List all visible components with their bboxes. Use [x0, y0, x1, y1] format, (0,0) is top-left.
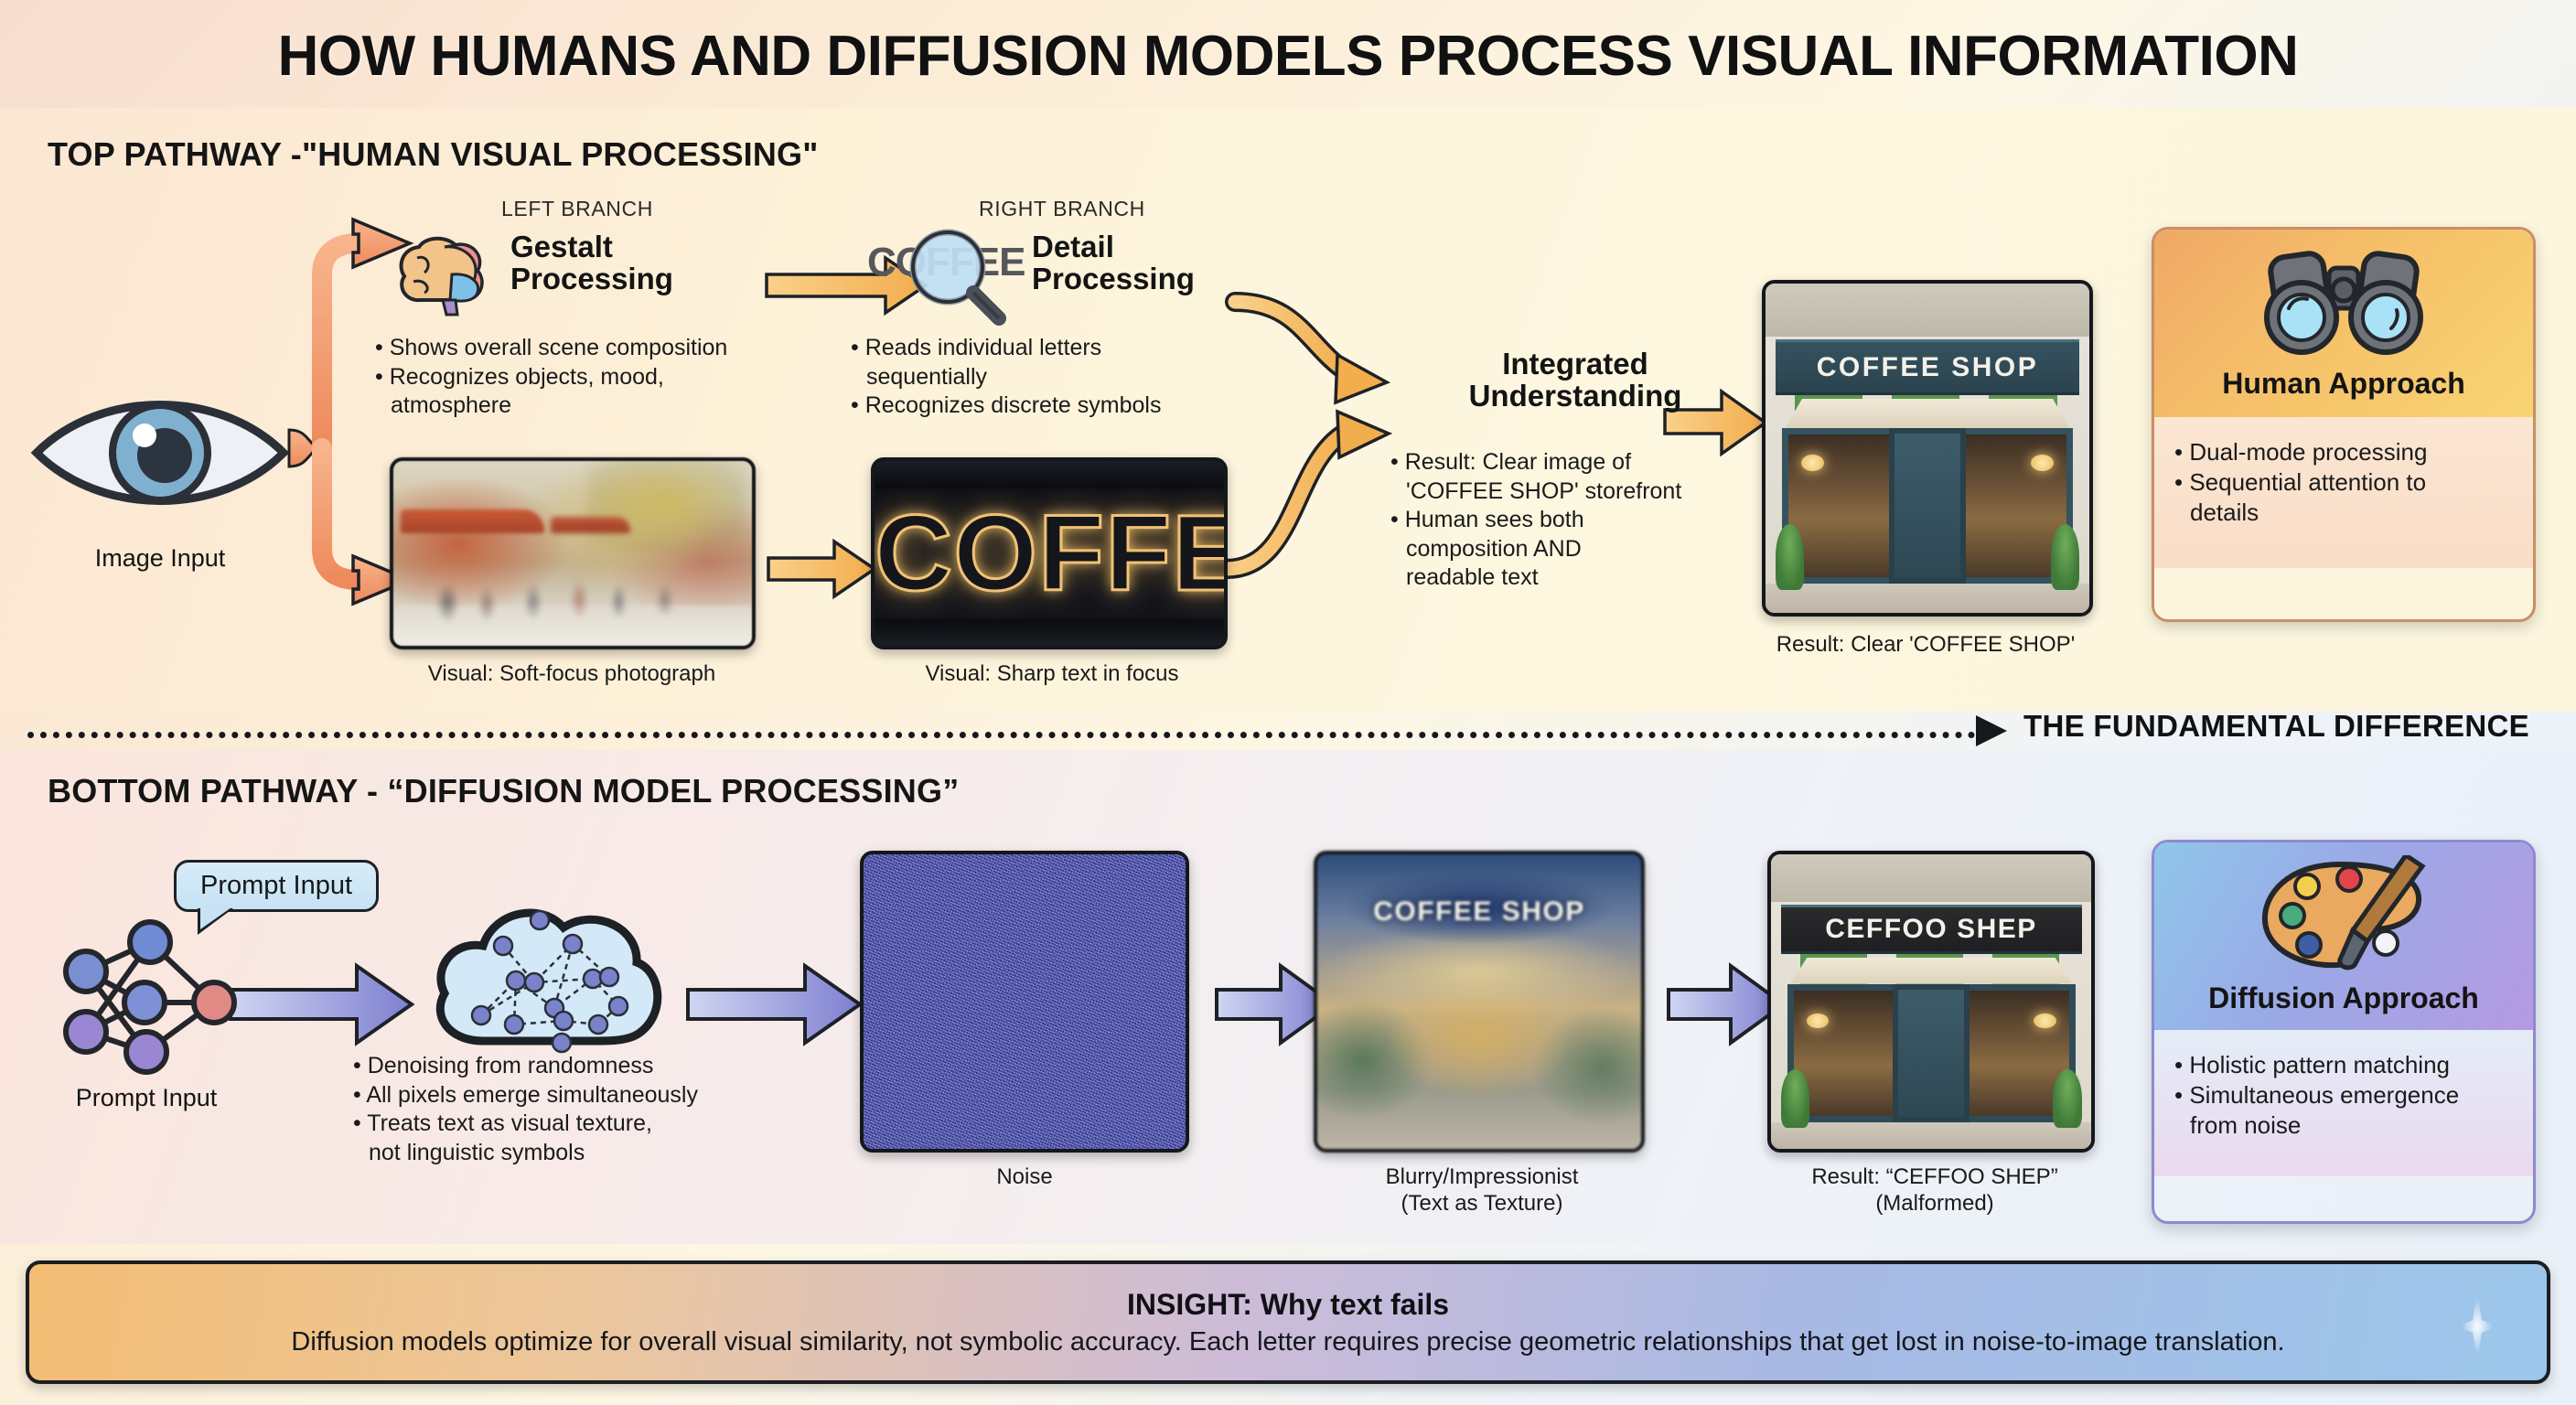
- integrated-title-line1: Integrated: [1420, 348, 1731, 380]
- detail-bullet-1-cont: sequentially: [851, 363, 1290, 392]
- malformed-thumbnail: CEFFOO SHEP: [1767, 851, 2095, 1153]
- neural-network-icon: [48, 915, 258, 1089]
- detail-bullet-2: Recognizes discrete symbols: [851, 391, 1290, 421]
- diffusion-bullet-2: All pixels emerge simultaneously: [353, 1081, 829, 1110]
- integrated-understanding-title: Integrated Understanding: [1420, 348, 1731, 413]
- blurry-thumbnail: COFFEE SHOP: [1314, 851, 1645, 1153]
- infographic-root: HOW HUMANS AND DIFFUSION MODELS PROCESS …: [0, 0, 2576, 1405]
- blurry-caption-line1: Blurry/Impressionist: [1386, 1164, 1579, 1189]
- insight-title: INSIGHT: Why text fails: [1127, 1288, 1449, 1322]
- diffusion-bullet-3-cont: not linguistic symbols: [353, 1139, 829, 1168]
- palette-icon: [2252, 855, 2435, 976]
- insight-text: Diffusion models optimize for overall vi…: [291, 1327, 2284, 1357]
- noise-thumbnail: [860, 851, 1189, 1153]
- human-approach-title: Human Approach: [2222, 367, 2465, 401]
- human-approach-card[interactable]: Human Approach Dual-mode processing Sequ…: [2152, 227, 2536, 622]
- diffusion-card-bullet-1: Holistic pattern matching: [2174, 1050, 2515, 1080]
- binoculars-icon: [2252, 242, 2435, 361]
- diffusion-approach-card[interactable]: Diffusion Approach Holistic pattern matc…: [2152, 840, 2536, 1224]
- blurry-caption: Blurry/Impressionist (Text as Texture): [1281, 1164, 1683, 1217]
- top-pathway-heading: TOP PATHWAY -"HUMAN VISUAL PROCESSING": [48, 135, 819, 174]
- detail-bullets: Reads individual letters sequentially Re…: [851, 334, 1290, 421]
- fundamental-difference-label: THE FUNDAMENTAL DIFFERENCE: [2023, 709, 2529, 744]
- blurry-sign-text: COFFEE SHOP: [1343, 890, 1615, 934]
- malformed-caption: Result: “CEFFOO SHEP” (Malformed): [1738, 1164, 2131, 1217]
- page-title: HOW HUMANS AND DIFFUSION MODELS PROCESS …: [0, 24, 2576, 89]
- diffusion-card-bullets: Holistic pattern matching Simultaneous e…: [2174, 1050, 2515, 1140]
- detail-title-line2: Processing: [1032, 262, 1195, 295]
- integrated-bullets: Result: Clear image of 'COFFEE SHOP' sto…: [1390, 448, 1756, 593]
- magnifier-icon: [904, 227, 1014, 327]
- diffusion-bullet-1: Denoising from randomness: [353, 1052, 829, 1081]
- malformed-sign-text: CEFFOO SHEP: [1825, 914, 2037, 945]
- soft-focus-photograph: [390, 457, 756, 649]
- image-input-label: Image Input: [27, 544, 293, 573]
- divider-arrowhead-icon: [1976, 715, 2007, 746]
- diffusion-bullets: Denoising from randomness All pixels eme…: [353, 1052, 829, 1167]
- prompt-input-label: Prompt Input: [18, 1084, 274, 1112]
- brain-icon: [392, 229, 492, 320]
- integrated-title-line2: Understanding: [1420, 380, 1731, 412]
- integrated-bullet-2: Human sees both: [1390, 506, 1756, 535]
- gestalt-bullets: Shows overall scene composition Recogniz…: [375, 334, 823, 421]
- human-card-bullets: Dual-mode processing Sequential attentio…: [2174, 437, 2515, 527]
- diffusion-approach-title: Diffusion Approach: [2208, 981, 2479, 1015]
- malformed-caption-line1: Result: “CEFFOO SHEP”: [1811, 1164, 2057, 1189]
- diffusion-card-body: Holistic pattern matching Simultaneous e…: [2154, 1030, 2533, 1176]
- neon-caption: Visual: Sharp text in focus: [842, 660, 1262, 687]
- diffusion-bullet-3: Treats text as visual texture,: [353, 1110, 829, 1139]
- detail-bullet-1: Reads individual letters: [851, 334, 1290, 363]
- neon-coffee-sign: COFFEE: [871, 457, 1228, 649]
- prompt-input-bubble: Prompt Input: [174, 860, 379, 912]
- sparkle-icon: [2455, 1288, 2499, 1365]
- insight-bar: INSIGHT: Why text fails Diffusion models…: [26, 1260, 2550, 1384]
- diffusion-card-bullet-2: Simultaneous emergence: [2174, 1080, 2515, 1110]
- detail-title-line1: Detail: [1032, 230, 1114, 263]
- neon-coffee-text: COFFEE: [875, 491, 1224, 616]
- fundamental-difference-divider: [27, 732, 1976, 738]
- eye-icon: [27, 384, 293, 521]
- clear-coffee-shop-photo: COFFEE SHOP: [1762, 280, 2093, 617]
- gestalt-title-line1: Gestalt: [510, 230, 613, 263]
- integrated-bullet-2-cont1: composition AND: [1390, 535, 1756, 564]
- gestalt-processing-title: Gestalt Processing: [510, 231, 673, 295]
- human-bullet-2: Sequential attention to: [2174, 467, 2515, 498]
- diffusion-card-bullet-2-cont: from noise: [2174, 1110, 2515, 1141]
- integrated-bullet-1-cont: 'COFFEE SHOP' storefront: [1390, 477, 1756, 507]
- clear-result-caption: Result: Clear 'COFFEE SHOP': [1720, 631, 2131, 658]
- human-bullet-1: Dual-mode processing: [2174, 437, 2515, 467]
- cloud-network-icon: [426, 887, 673, 1070]
- right-branch-label: RIGHT BRANCH: [979, 197, 1145, 221]
- gestalt-bullet-2-cont: atmosphere: [375, 391, 823, 421]
- soft-focus-caption: Visual: Soft-focus photograph: [357, 660, 787, 687]
- integrated-bullet-1: Result: Clear image of: [1390, 448, 1756, 477]
- integrated-bullet-2-cont2: readable text: [1390, 563, 1756, 593]
- diffusion-card-header: Diffusion Approach: [2154, 842, 2533, 1030]
- detail-processing-title: Detail Processing: [1032, 231, 1195, 295]
- gestalt-bullet-2: Recognizes objects, mood,: [375, 363, 823, 392]
- storefront-sign-text: COFFEE SHOP: [1817, 352, 2039, 383]
- blurry-caption-line2: (Text as Texture): [1401, 1191, 1563, 1216]
- left-branch-label: LEFT BRANCH: [501, 197, 653, 221]
- human-bullet-2-cont: details: [2174, 498, 2515, 528]
- malformed-caption-line2: (Malformed): [1875, 1191, 1993, 1216]
- human-card-header: Human Approach: [2154, 230, 2533, 417]
- bottom-pathway-heading: BOTTOM PATHWAY - “DIFFUSION MODEL PROCES…: [48, 772, 959, 810]
- gestalt-title-line2: Processing: [510, 262, 673, 295]
- noise-caption: Noise: [860, 1164, 1189, 1190]
- gestalt-bullet-1: Shows overall scene composition: [375, 334, 823, 363]
- human-card-body: Dual-mode processing Sequential attentio…: [2154, 417, 2533, 568]
